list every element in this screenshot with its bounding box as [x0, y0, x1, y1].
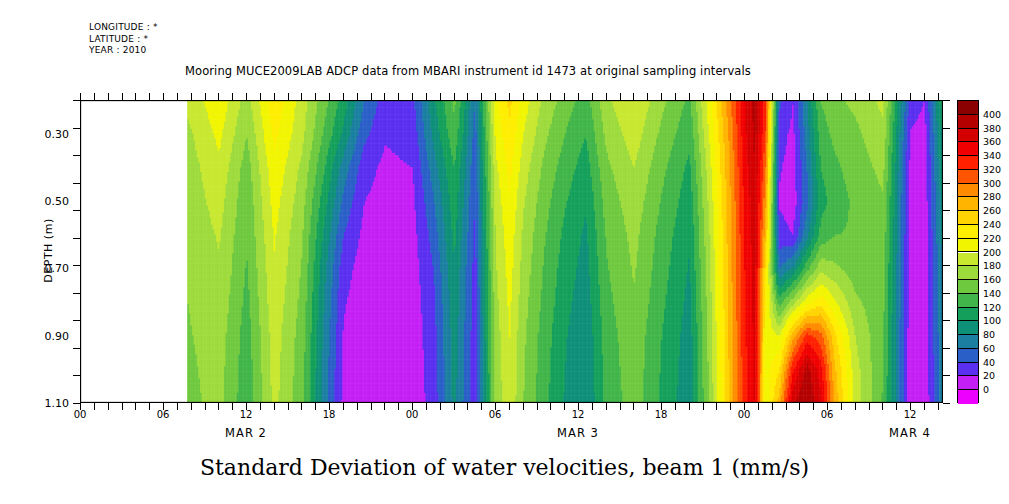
x-tick [412, 93, 413, 100]
x-tick [772, 403, 773, 410]
x-tick [246, 93, 247, 100]
x-tick [357, 93, 358, 100]
x-tick [440, 93, 441, 100]
x-tick [730, 93, 731, 100]
x-tick [315, 93, 316, 100]
x-axis-day-label: MAR 3 [557, 426, 599, 440]
x-tick [274, 403, 275, 410]
x-tick [703, 403, 704, 410]
x-tick [163, 93, 164, 100]
plot-title: Mooring MUCE2009LAB ADCP data from MBARI… [185, 64, 751, 78]
x-tick [260, 403, 261, 410]
x-tick [924, 403, 925, 410]
x-tick [606, 403, 607, 410]
x-tick [827, 93, 828, 100]
colorbar-label: 160 [983, 274, 1001, 285]
x-tick [398, 403, 399, 410]
colorbar-band [958, 321, 978, 335]
x-tick [938, 93, 939, 100]
x-tick [384, 93, 385, 100]
colorbar-band [958, 294, 978, 308]
x-tick [288, 403, 289, 410]
colorbar-label: 140 [983, 287, 1001, 298]
colorbar-band [958, 308, 978, 322]
x-tick [315, 403, 316, 410]
y-tick [73, 128, 80, 129]
colorbar-band [958, 225, 978, 239]
x-tick [633, 403, 634, 410]
x-tick [606, 93, 607, 100]
x-tick [758, 93, 759, 100]
x-tick [108, 93, 109, 100]
x-tick [343, 403, 344, 410]
colorbar-label: 360 [983, 136, 1001, 147]
colorbar-band [958, 211, 978, 225]
x-tick [882, 93, 883, 100]
colorbar-label: 40 [983, 356, 995, 367]
x-tick [592, 403, 593, 410]
x-tick [495, 93, 496, 100]
y-axis-tick-label: 0.90 [27, 329, 69, 342]
x-tick [564, 93, 565, 100]
colorbar-band [958, 184, 978, 198]
x-tick [454, 93, 455, 100]
x-tick [440, 403, 441, 410]
contour-heatmap [80, 100, 943, 403]
x-tick [205, 403, 206, 410]
x-tick [772, 93, 773, 100]
colorbar-band [958, 142, 978, 156]
x-tick [232, 93, 233, 100]
x-tick [357, 403, 358, 410]
x-tick [647, 403, 648, 410]
colorbar-label: 220 [983, 232, 1001, 243]
y-tick [943, 403, 950, 404]
x-tick [149, 93, 150, 100]
x-tick [910, 93, 911, 100]
x-tick [301, 93, 302, 100]
y-axis-tick-label: 0.30 [27, 127, 69, 140]
metadata-block: LONGITUDE : * LATITUDE : * YEAR : 2010 [89, 22, 158, 57]
x-tick [689, 93, 690, 100]
x-tick [481, 403, 482, 410]
x-tick [661, 93, 662, 100]
x-tick [274, 93, 275, 100]
y-tick [73, 210, 80, 211]
x-tick [786, 403, 787, 410]
colorbar-label: 340 [983, 150, 1001, 161]
x-tick [744, 93, 745, 100]
x-axis-hour-label: 12 [240, 409, 253, 420]
x-tick [799, 93, 800, 100]
x-axis-hour-label: 18 [323, 409, 336, 420]
x-tick [620, 403, 621, 410]
x-tick [592, 93, 593, 100]
x-tick [108, 403, 109, 410]
x-tick [122, 403, 123, 410]
colorbar-band [958, 349, 978, 363]
y-tick [73, 100, 80, 101]
x-tick [550, 403, 551, 410]
colorbar [957, 100, 979, 403]
y-tick [943, 375, 950, 376]
x-tick [882, 403, 883, 410]
x-tick [218, 403, 219, 410]
x-tick [218, 93, 219, 100]
x-tick [675, 403, 676, 410]
y-tick [943, 100, 950, 101]
y-tick [73, 403, 80, 404]
x-tick [371, 403, 372, 410]
x-tick [799, 403, 800, 410]
x-tick [94, 403, 95, 410]
y-tick [943, 265, 950, 266]
y-tick [73, 155, 80, 156]
x-tick [205, 93, 206, 100]
x-tick [730, 403, 731, 410]
colorbar-label: 180 [983, 260, 1001, 271]
x-tick [523, 403, 524, 410]
x-tick [896, 403, 897, 410]
x-tick [398, 93, 399, 100]
x-tick [467, 403, 468, 410]
y-tick [73, 375, 80, 376]
x-tick [509, 93, 510, 100]
colorbar-band [958, 376, 978, 390]
x-tick [426, 93, 427, 100]
x-tick [578, 93, 579, 100]
x-tick [135, 93, 136, 100]
y-tick [943, 293, 950, 294]
x-axis-hour-label: 06 [157, 409, 170, 420]
colorbar-band [958, 197, 978, 211]
x-tick [426, 403, 427, 410]
colorbar-band [958, 115, 978, 129]
x-axis-hour-label: 00 [738, 409, 751, 420]
x-axis-hour-label: 12 [904, 409, 917, 420]
y-tick [943, 183, 950, 184]
colorbar-label: 0 [983, 384, 989, 395]
x-tick [855, 93, 856, 100]
x-tick [232, 403, 233, 410]
x-axis-hour-label: 00 [74, 409, 87, 420]
x-tick [191, 93, 192, 100]
colorbar-label: 400 [983, 108, 1001, 119]
x-tick [550, 93, 551, 100]
x-tick [869, 93, 870, 100]
x-axis-day-label: MAR 4 [889, 426, 931, 440]
colorbar-label: 320 [983, 163, 1001, 174]
y-tick [943, 320, 950, 321]
x-tick [675, 93, 676, 100]
x-tick [80, 93, 81, 100]
x-tick [177, 93, 178, 100]
x-tick [620, 93, 621, 100]
x-tick [869, 403, 870, 410]
x-tick [329, 93, 330, 100]
x-axis-hour-label: 00 [406, 409, 419, 420]
x-tick [564, 403, 565, 410]
x-tick [786, 93, 787, 100]
x-axis-hour-label: 06 [489, 409, 502, 420]
x-tick [301, 403, 302, 410]
colorbar-band [958, 335, 978, 349]
colorbar-label: 240 [983, 218, 1001, 229]
y-tick [73, 320, 80, 321]
y-tick [73, 265, 80, 266]
colorbar-label: 20 [983, 370, 995, 381]
colorbar-label: 100 [983, 315, 1001, 326]
colorbar-band [958, 129, 978, 143]
x-tick [647, 93, 648, 100]
colorbar-band [958, 363, 978, 377]
colorbar-band [958, 239, 978, 253]
longitude-label: LONGITUDE : * [89, 22, 158, 34]
x-tick [481, 93, 482, 100]
colorbar-band [958, 253, 978, 267]
x-tick [177, 403, 178, 410]
x-axis-hour-label: 18 [655, 409, 668, 420]
x-axis-hour-label: 06 [821, 409, 834, 420]
x-tick [537, 93, 538, 100]
x-tick [703, 93, 704, 100]
y-tick [943, 128, 950, 129]
colorbar-label: 200 [983, 246, 1001, 257]
plot-area [80, 100, 943, 403]
x-tick [191, 403, 192, 410]
x-tick [467, 93, 468, 100]
x-tick [371, 93, 372, 100]
x-tick [689, 403, 690, 410]
x-axis-day-label: MAR 2 [225, 426, 267, 440]
figure-caption: Standard Deviation of water velocities, … [0, 455, 1009, 480]
x-tick [509, 403, 510, 410]
colorbar-band [958, 390, 978, 404]
latitude-label: LATITUDE : * [89, 34, 158, 46]
colorbar-label: 120 [983, 301, 1001, 312]
colorbar-label: 80 [983, 329, 995, 340]
x-tick [260, 93, 261, 100]
x-tick [94, 93, 95, 100]
x-tick [841, 93, 842, 100]
x-tick [122, 93, 123, 100]
x-tick [537, 403, 538, 410]
x-tick [938, 403, 939, 410]
x-tick [288, 93, 289, 100]
x-tick [716, 403, 717, 410]
x-tick [343, 93, 344, 100]
x-tick [758, 403, 759, 410]
figure-root: LONGITUDE : * LATITUDE : * YEAR : 2010 M… [0, 0, 1009, 504]
x-tick [523, 93, 524, 100]
year-label: YEAR : 2010 [89, 45, 158, 57]
y-tick [73, 348, 80, 349]
colorbar-label: 60 [983, 342, 995, 353]
x-axis-hour-label: 12 [572, 409, 585, 420]
y-tick [943, 210, 950, 211]
colorbar-label: 380 [983, 122, 1001, 133]
colorbar-band [958, 170, 978, 184]
y-tick [943, 238, 950, 239]
y-tick [943, 155, 950, 156]
x-tick [384, 403, 385, 410]
y-tick [73, 183, 80, 184]
x-tick [924, 93, 925, 100]
x-tick [135, 403, 136, 410]
x-tick [896, 93, 897, 100]
x-tick [633, 93, 634, 100]
x-tick [855, 403, 856, 410]
colorbar-band [958, 280, 978, 294]
x-tick [813, 93, 814, 100]
colorbar-label: 300 [983, 177, 1001, 188]
x-tick [716, 93, 717, 100]
y-tick [73, 238, 80, 239]
y-axis-title: DEPTH (m) [42, 190, 55, 310]
x-tick [841, 403, 842, 410]
colorbar-band [958, 266, 978, 280]
colorbar-label: 260 [983, 205, 1001, 216]
colorbar-band [958, 156, 978, 170]
x-tick [149, 403, 150, 410]
colorbar-label: 280 [983, 191, 1001, 202]
y-tick [943, 348, 950, 349]
x-tick [813, 403, 814, 410]
y-axis-tick-label: 1.10 [27, 397, 69, 410]
colorbar-band [958, 101, 978, 115]
y-tick [73, 293, 80, 294]
x-tick [454, 403, 455, 410]
